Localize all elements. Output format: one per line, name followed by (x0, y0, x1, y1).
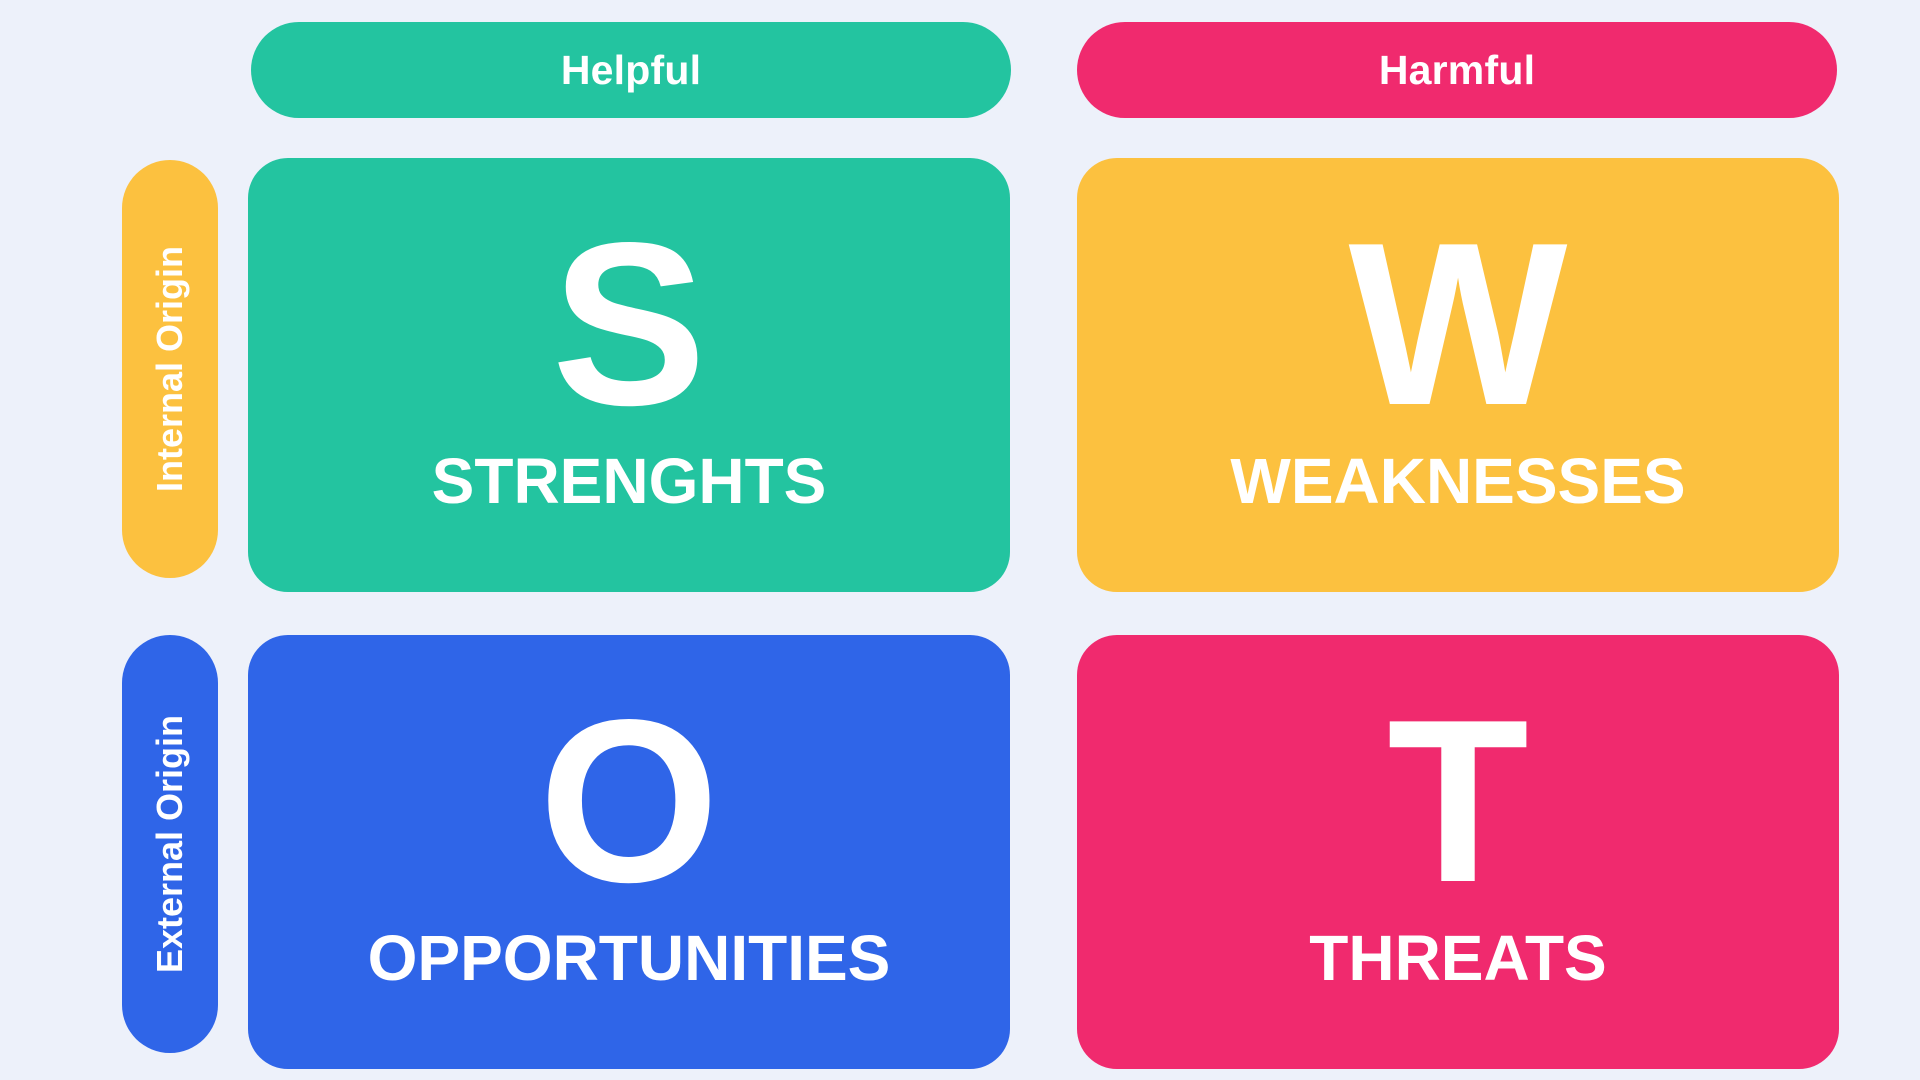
quadrant-opportunities-letter: O (539, 700, 719, 904)
quadrant-strengths: S STRENGHTS (248, 158, 1010, 592)
row-label-internal-origin-text: Internal Origin (149, 246, 191, 492)
quadrant-weaknesses-title: WEAKNESSES (1230, 449, 1685, 513)
swot-matrix: Helpful Harmful Internal Origin External… (0, 0, 1920, 1080)
row-label-internal-origin: Internal Origin (122, 160, 218, 578)
column-header-harmful: Harmful (1077, 22, 1837, 118)
column-header-helpful: Helpful (251, 22, 1011, 118)
quadrant-strengths-letter: S (552, 223, 707, 427)
quadrant-weaknesses: W WEAKNESSES (1077, 158, 1839, 592)
quadrant-opportunities: O OPPORTUNITIES (248, 635, 1010, 1069)
quadrant-threats: T THREATS (1077, 635, 1839, 1069)
column-header-harmful-label: Harmful (1379, 47, 1535, 94)
quadrant-threats-title: THREATS (1309, 926, 1606, 990)
row-label-external-origin-text: External Origin (149, 715, 191, 973)
quadrant-strengths-title: STRENGHTS (432, 449, 827, 513)
quadrant-opportunities-title: OPPORTUNITIES (368, 926, 891, 990)
quadrant-weaknesses-letter: W (1349, 223, 1568, 427)
row-label-external-origin: External Origin (122, 635, 218, 1053)
column-header-helpful-label: Helpful (561, 47, 701, 94)
quadrant-threats-letter: T (1387, 700, 1529, 904)
